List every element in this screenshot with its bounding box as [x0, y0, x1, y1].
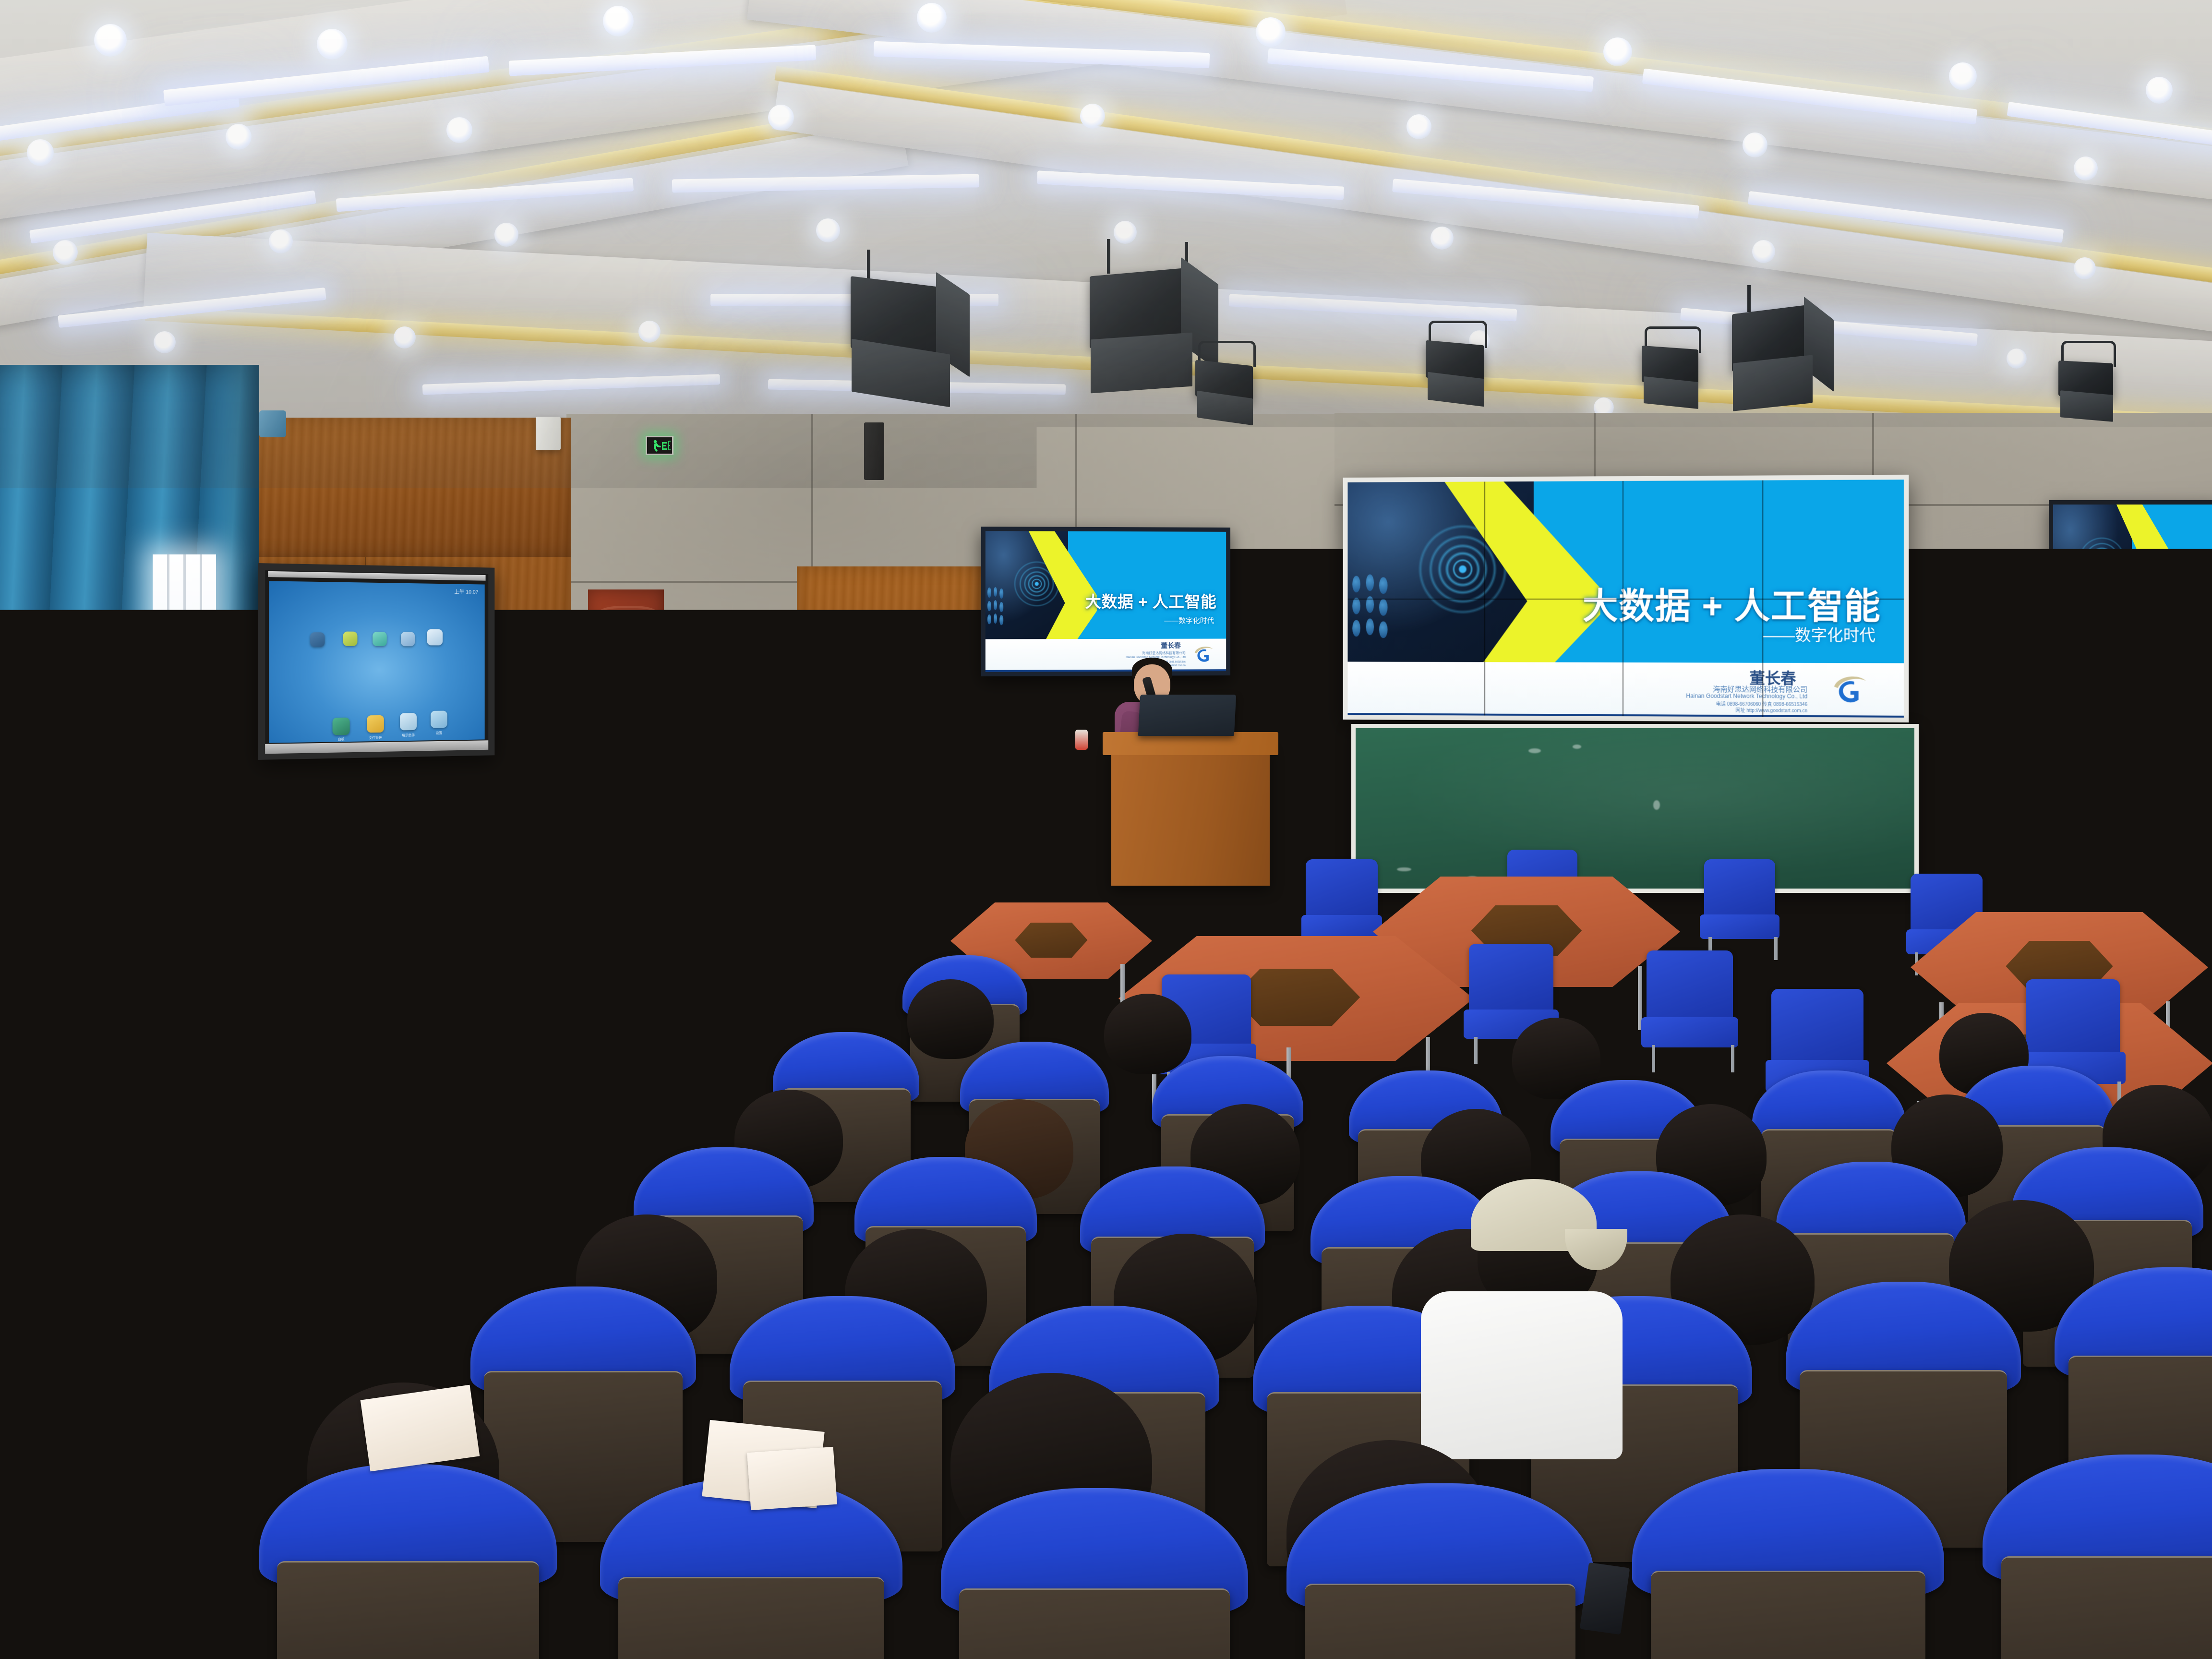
downlight [394, 326, 416, 349]
whiteboard-app-icon[interactable] [333, 718, 350, 735]
slide-presenter-name: 董长春 [1161, 640, 1181, 650]
files-icon[interactable] [401, 632, 415, 646]
chalkboard [1351, 724, 1919, 893]
ac-display [215, 759, 239, 766]
handout-paper [361, 1385, 480, 1472]
downlight [2074, 257, 2096, 279]
window [153, 554, 216, 679]
notes-icon[interactable] [343, 632, 358, 646]
auditorium-seat [941, 1488, 1248, 1659]
window-curtain [0, 365, 259, 883]
downlight [1080, 104, 1105, 129]
downlight [1407, 114, 1431, 139]
downlight [154, 331, 176, 353]
iwb-screen[interactable]: 上午 10:07 白板 文件管理 展示助手 设置 [269, 581, 484, 743]
video-wall[interactable]: 大数据 + 人工智能 ——数字化时代 董长春 海南好思达网络科技有限公司 Hai… [1343, 475, 1909, 722]
ceiling-stage-light [1637, 336, 1711, 408]
wall-speaker [864, 422, 884, 480]
slide-subtitle: ——数字化时代 [1763, 622, 1875, 646]
slide-subtitle: ——数字化时代 [1164, 615, 1214, 625]
downlight [1603, 37, 1632, 66]
wall-outlet-plate [902, 686, 956, 707]
downlight [768, 105, 794, 131]
settings-icon[interactable] [310, 632, 325, 647]
downlight [1114, 221, 1137, 244]
water-bottle-foreground [58, 1584, 144, 1659]
slide-main: 大数据 + 人工智能 ——数字化时代 董长春 海南好思达网络科技有限公司 Hai… [1347, 480, 1904, 718]
slide-right: 大数据 + 人工智能 [2053, 505, 2212, 661]
downlight [1949, 62, 1977, 90]
downlight [27, 139, 54, 166]
camera-app-label: 展示助手 [397, 733, 419, 738]
staff-member [691, 670, 787, 833]
downlight [2074, 156, 2098, 180]
downlight [317, 29, 348, 60]
staff-head [714, 675, 748, 714]
emergency-exit-sign [646, 436, 673, 455]
laptop[interactable] [1138, 695, 1237, 736]
ceiling-stage-light [845, 278, 974, 403]
auditorium-seat [1983, 1455, 2212, 1659]
downlight [226, 124, 252, 150]
lecture-hall-photo: 上午 10:07 白板 文件管理 展示助手 设置 [0, 0, 2212, 1659]
auditorium-seat [1632, 1469, 1944, 1659]
ceiling-stage-light [1190, 350, 1267, 422]
settings-app-label: 设置 [428, 731, 449, 736]
iwb-top-trim [268, 571, 485, 581]
air-conditioner [170, 670, 247, 790]
wall-device [259, 410, 286, 437]
white-shirt [1421, 1291, 1623, 1459]
audience-person-with-cap [1450, 1171, 1656, 1459]
downlight [53, 240, 78, 265]
slide-company-en: Hainan Goodstart Network Technology Co.,… [1686, 692, 1807, 699]
podium [1111, 746, 1270, 886]
wristwatch [733, 729, 744, 736]
ac-vent-grille [177, 681, 239, 718]
whiteboard-app-label: 白板 [330, 737, 352, 742]
slide-title: 大数据 + 人工智能 [1085, 589, 1217, 612]
downlight [269, 229, 293, 253]
ceiling-stage-light [1421, 331, 1498, 406]
water-bottle [1075, 730, 1088, 750]
downlight [1431, 227, 1454, 250]
downlight [1743, 132, 1767, 157]
door-left[interactable] [588, 589, 664, 839]
folder-app-icon[interactable] [367, 715, 384, 733]
downlight [446, 117, 472, 143]
running-man-exit-icon [648, 438, 672, 453]
ceiling-stage-light [2055, 350, 2127, 422]
browser-icon[interactable] [373, 632, 387, 646]
auditorium-seat [259, 1464, 557, 1659]
stacking-chair [1704, 859, 1775, 954]
wall-camera [1254, 591, 1326, 654]
downlight [94, 24, 127, 57]
downlight [816, 218, 840, 242]
goodstart-logo-icon [1813, 672, 1887, 709]
wall-camera [1930, 594, 2002, 657]
standing-student [528, 830, 629, 989]
handout-paper [747, 1447, 837, 1510]
downlight [1752, 240, 1775, 263]
linear-light [422, 374, 720, 395]
downlight [638, 321, 661, 343]
interactive-whiteboard[interactable]: 上午 10:07 白板 文件管理 展示助手 设置 [258, 563, 495, 760]
slide-title: 大数据 + 人工智能 [1583, 577, 1881, 629]
folder-app-label: 文件管理 [364, 735, 386, 741]
slide-company-cn: 海南好思达网络科技有限公司 [1142, 651, 1185, 656]
iwb-status-text: 上午 10:07 [455, 588, 479, 595]
auditorium-seat [1286, 1483, 1594, 1659]
downlight [603, 6, 634, 36]
downlight [917, 3, 947, 33]
downlight [494, 223, 518, 247]
stacking-chair [1647, 950, 1733, 1066]
ceiling-stage-light [1728, 307, 1834, 418]
slide-side: 大数据 + 人工智能 ——数字化时代 董长春 海南好思达网络科技有限公司 Hai… [986, 531, 1226, 672]
wall-control-box [536, 417, 561, 450]
downlight [1256, 17, 1286, 47]
settings-app-icon[interactable] [431, 711, 447, 728]
slide-title: 大数据 + 人工智能 [2133, 577, 2212, 604]
side-monitor[interactable]: 大数据 + 人工智能 ——数字化时代 董长春 海南好思达网络科技有限公司 Hai… [981, 527, 1230, 676]
share-icon[interactable] [427, 629, 443, 646]
slide-web: 网址 http://www.goodstart.com.cn [1735, 706, 1807, 714]
camera-app-icon[interactable] [400, 713, 417, 730]
downlight [2007, 349, 2027, 369]
ceiling [0, 0, 2212, 470]
downlight [2146, 77, 2173, 104]
right-monitor[interactable]: 大数据 + 人工智能 [2049, 500, 2212, 666]
